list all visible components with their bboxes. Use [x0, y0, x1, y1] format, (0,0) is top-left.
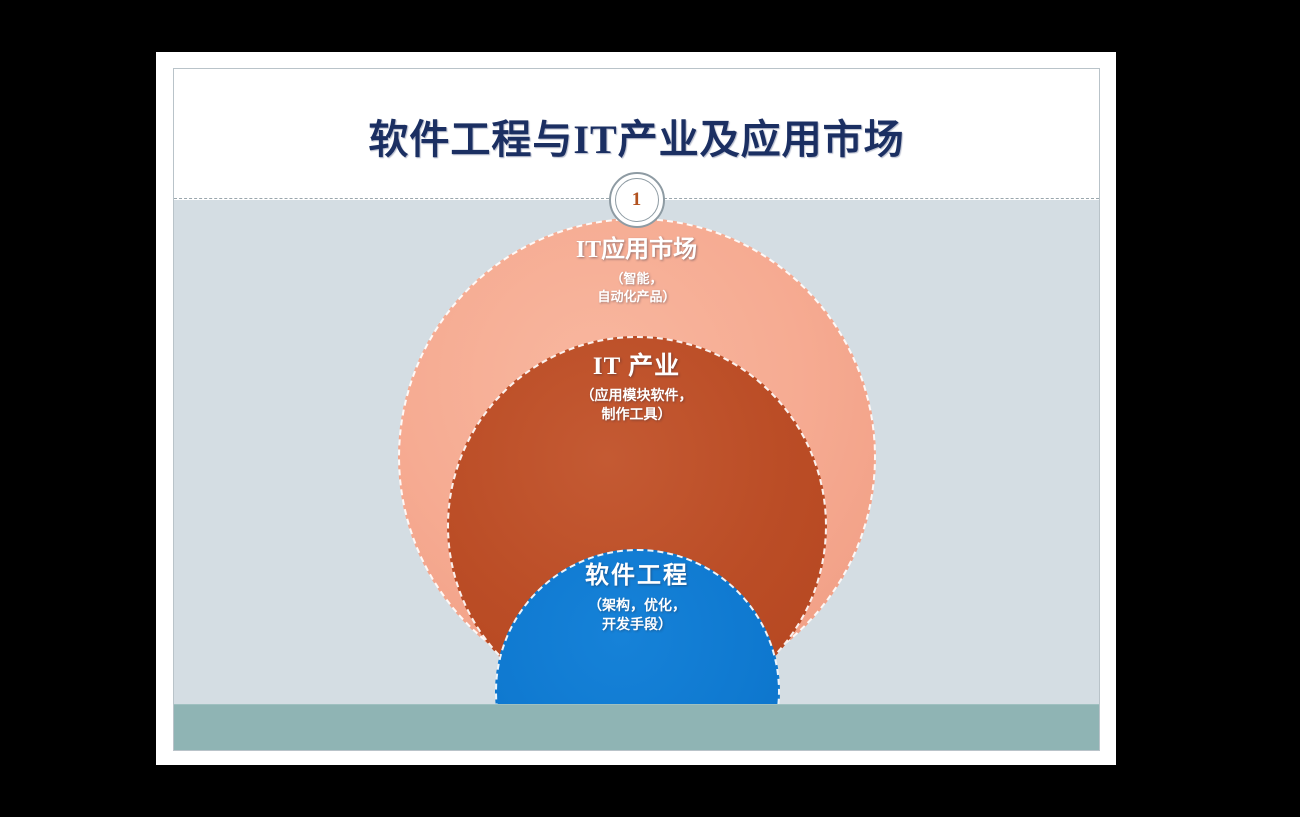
divider-line-left	[174, 198, 614, 199]
diagram-circle-subtitle-it-application-market: （智能， 自动化产品）	[400, 270, 874, 305]
slide-footer-bar	[174, 704, 1099, 750]
page-title: 软件工程与IT产业及应用市场	[174, 107, 1099, 165]
slide-canvas: 软件工程与IT产业及应用市场 1 IT应用市场 （智能， 自动化产品）	[173, 68, 1100, 751]
diagram-subtitle-line: 制作工具）	[449, 407, 825, 426]
diagram-subtitle-line: （智能，	[400, 270, 874, 288]
diagram-circle-it-application-market: IT应用市场 （智能， 自动化产品） IT 产业 （应用模块软件， 制作工具）	[398, 218, 876, 696]
presentation-stage: 软件工程与IT产业及应用市场 1 IT应用市场 （智能， 自动化产品）	[0, 0, 1300, 817]
slide-outer-frame: 软件工程与IT产业及应用市场 1 IT应用市场 （智能， 自动化产品）	[156, 52, 1116, 765]
diagram-subtitle-line: （应用模块软件，	[449, 388, 825, 407]
diagram-subtitle-line: 自动化产品）	[400, 288, 874, 306]
page-number-text: 1	[611, 174, 663, 226]
diagram-subtitle-line: 开发手段）	[497, 617, 778, 636]
diagram-circle-it-industry: IT 产业 （应用模块软件， 制作工具） 软件工程 （架构，优化， 开发手段）	[447, 336, 827, 716]
diagram-circle-subtitle-it-industry: （应用模块软件， 制作工具）	[449, 388, 825, 426]
divider-line-right	[659, 198, 1099, 199]
diagram-subtitle-line: （架构，优化，	[497, 598, 778, 617]
diagram-circle-heading-it-application-market: IT应用市场	[400, 237, 874, 263]
diagram-circle-subtitle-software-engineering: （架构，优化， 开发手段）	[497, 598, 778, 636]
slide-body: IT应用市场 （智能， 自动化产品） IT 产业 （应用模块软件， 制作工具）	[174, 200, 1099, 750]
page-number-badge: 1	[609, 172, 665, 228]
diagram-circle-heading-software-engineering: 软件工程	[497, 563, 778, 589]
diagram-circle-heading-it-industry: IT 产业	[449, 353, 825, 381]
